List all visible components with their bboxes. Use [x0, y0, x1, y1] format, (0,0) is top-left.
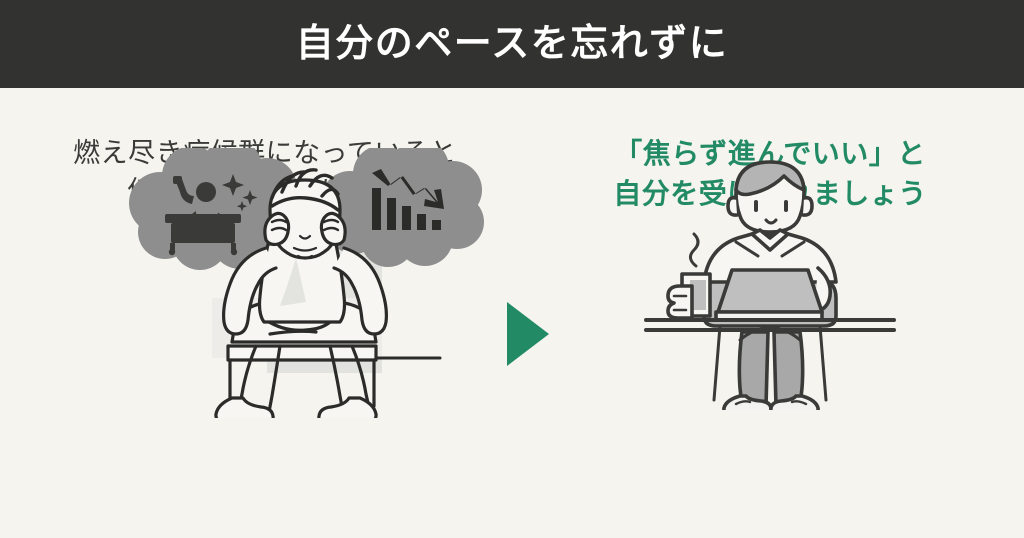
hand-holding-cup — [668, 286, 692, 318]
burned-out-person-illustration — [120, 148, 490, 418]
steam-icon — [690, 234, 698, 266]
slide-root: 自分のペースを忘れずに 燃え尽き症候群になっていると 他人と比べがちになる 「焦… — [0, 0, 1024, 538]
laptop — [716, 270, 822, 320]
page-title: 自分のペースを忘れずに — [296, 25, 729, 63]
right-arrow — [505, 300, 551, 368]
header-bar: 自分のペースを忘れずに — [0, 0, 1024, 88]
person-head — [728, 162, 812, 232]
chair-legs — [714, 326, 826, 400]
coffee-cup — [668, 234, 710, 318]
arrow-triangle — [507, 302, 549, 366]
relaxed-person-at-laptop-illustration — [640, 150, 900, 410]
